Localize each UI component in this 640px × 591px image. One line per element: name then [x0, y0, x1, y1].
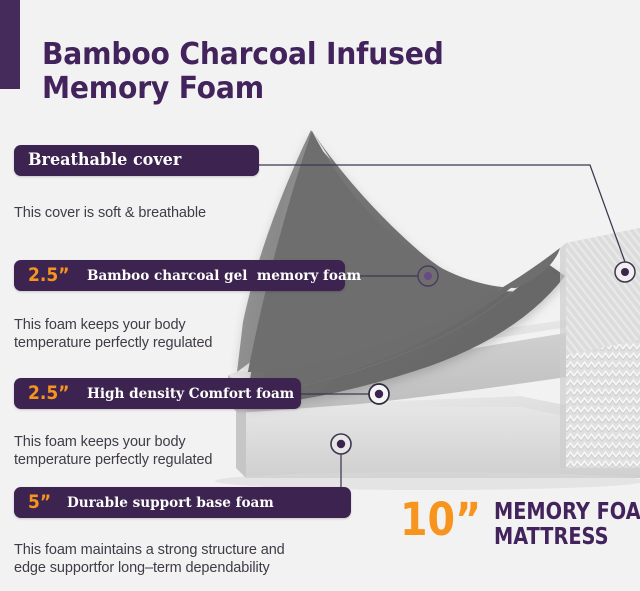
marker-base: [331, 434, 351, 454]
callout-size-comfort: 2.5”: [28, 384, 70, 403]
callout-label-base: 5” Durable support base foam: [14, 487, 351, 518]
callout-markers: [331, 262, 635, 454]
mattress-cover-fabric: [560, 228, 640, 468]
marker-comfort: [369, 384, 389, 404]
callout-description-bamboo: This foam keeps your body temperature pe…: [14, 316, 314, 353]
page-title: Bamboo Charcoal Infused Memory Foam: [42, 38, 484, 105]
product-size-caption: MEMORY FOAM MATTRESS: [494, 500, 640, 549]
page-title-line-1: Bamboo Charcoal Infused: [42, 38, 484, 72]
infographic-canvas: Bamboo Charcoal Infused Memory Foam Brea…: [0, 0, 640, 591]
callout-description-cover: This cover is soft & breathable: [14, 204, 314, 223]
callout-size-bamboo: 2.5”: [28, 266, 70, 285]
callout-label-base-text: Durable support base foam: [67, 496, 274, 510]
callout-label-comfort: 2.5” High density Comfort foam: [14, 378, 301, 409]
callout-label-bamboo-text: Bamboo charcoal gel memory foam: [87, 269, 361, 283]
product-size-block: 10” MEMORY FOAM MATTRESS: [400, 499, 640, 549]
marker-cover: [615, 262, 635, 282]
callout-label-comfort-text: High density Comfort foam: [87, 387, 294, 401]
callout-label-cover: Breathable cover: [14, 145, 259, 176]
left-accent-bar: [0, 0, 20, 89]
product-size-caption-line-2: MATTRESS: [494, 525, 640, 550]
callout-description-base: This foam maintains a strong structure a…: [14, 541, 374, 578]
callout-label-cover-text: Breathable cover: [28, 152, 181, 169]
callout-size-base: 5”: [28, 493, 51, 512]
marker-bamboo: [418, 266, 438, 286]
page-title-line-2: Memory Foam: [42, 72, 484, 106]
callout-label-bamboo: 2.5” Bamboo charcoal gel memory foam: [14, 260, 345, 291]
callout-description-comfort: This foam keeps your body temperature pe…: [14, 433, 314, 470]
product-size-number: 10”: [400, 499, 481, 540]
product-size-caption-line-1: MEMORY FOAM: [494, 500, 640, 525]
